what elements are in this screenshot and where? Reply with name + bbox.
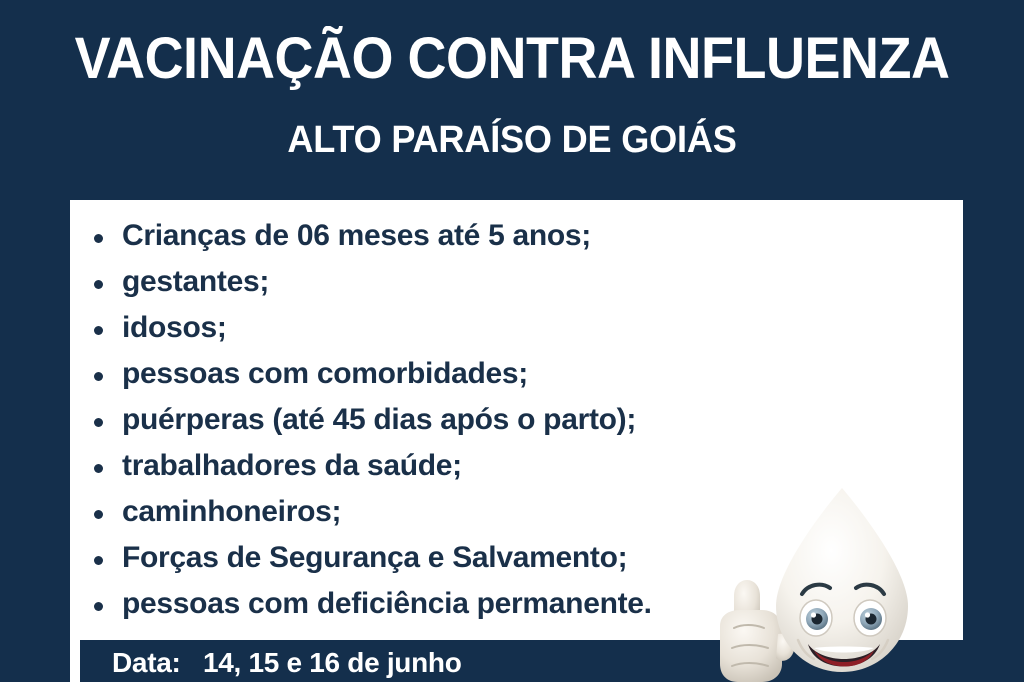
eligible-audience-list: Crianças de 06 meses até 5 anos; gestant… <box>70 200 652 628</box>
content-panel: Crianças de 06 meses até 5 anos; gestant… <box>70 200 963 682</box>
list-item: pessoas com comorbidades; <box>70 352 652 398</box>
list-item: pessoas com deficiência permanente. <box>70 582 652 628</box>
list-item: Crianças de 06 meses até 5 anos; <box>70 214 652 260</box>
list-item: caminhoneiros; <box>70 490 652 536</box>
date-line: Data: 14, 15 e 16 de junho <box>112 646 462 680</box>
list-item: puérperas (até 45 dias após o parto); <box>70 398 652 444</box>
list-item: trabalhadores da saúde; <box>70 444 652 490</box>
poster-subtitle: ALTO PARAÍSO DE GOIÁS <box>26 118 999 162</box>
date-value: 14, 15 e 16 de junho <box>203 647 462 678</box>
list-item: gestantes; <box>70 260 652 306</box>
vaccination-poster: VACINAÇÃO CONTRA INFLUENZA ALTO PARAÍSO … <box>0 0 1024 682</box>
date-label: Data: <box>112 647 181 678</box>
list-item: Forças de Segurança e Salvamento; <box>70 536 652 582</box>
date-bar: Data: 14, 15 e 16 de junho <box>80 640 963 682</box>
poster-header: VACINAÇÃO CONTRA INFLUENZA ALTO PARAÍSO … <box>0 0 1024 190</box>
page-title: VACINAÇÃO CONTRA INFLUENZA <box>36 28 988 90</box>
list-item: idosos; <box>70 306 652 352</box>
